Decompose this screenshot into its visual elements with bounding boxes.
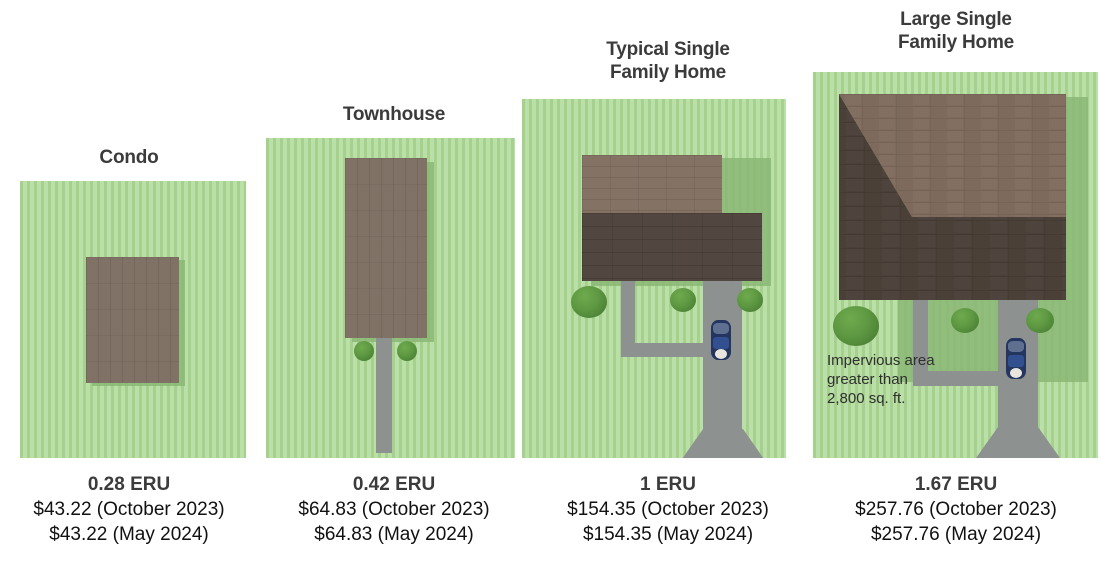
- bush-icon: [737, 288, 763, 312]
- panel-title-typical-single-family-home: Typical Single Family Home: [530, 38, 806, 84]
- condo-building-footprint: [86, 257, 179, 383]
- panel-title-condo: Condo: [0, 146, 258, 169]
- lot-large-single-family-home: Impervious area greater than 2,800 sq. f…: [813, 72, 1098, 458]
- panel-typical-single-family-home: Typical Single Family Home 1 ERU: [530, 0, 806, 571]
- eru-comparison-infographic: Condo 0.28 ERU $43.22 (October 2023) $43…: [0, 0, 1106, 571]
- caption-large-single-family-home: 1.67 ERU $257.76 (October 2023) $257.76 …: [806, 472, 1106, 547]
- bush-icon: [571, 286, 607, 318]
- eru-value-large-single-family-home: 1.67 ERU: [806, 472, 1106, 497]
- panel-large-single-family-home: Large Single Family Home: [806, 0, 1106, 571]
- car-icon: [710, 319, 732, 361]
- bush-icon: [670, 288, 696, 312]
- price-may-large-single-family-home: $257.76 (May 2024): [806, 522, 1106, 547]
- caption-typical-single-family-home: 1 ERU $154.35 (October 2023) $154.35 (Ma…: [530, 472, 806, 547]
- price-october-townhouse: $64.83 (October 2023): [258, 497, 530, 522]
- price-may-townhouse: $64.83 (May 2024): [258, 522, 530, 547]
- panel-condo: Condo 0.28 ERU $43.22 (October 2023) $43…: [0, 0, 258, 571]
- townhouse-building-footprint: [345, 158, 427, 338]
- lot-typical-single-family-home: [522, 99, 786, 458]
- townhouse-walkway: [376, 338, 392, 453]
- panel-title-large-single-family-home: Large Single Family Home: [806, 8, 1106, 54]
- impervious-area-annotation: Impervious area greater than 2,800 sq. f…: [827, 351, 987, 408]
- lot-townhouse: [266, 138, 515, 458]
- bush-icon: [1026, 308, 1054, 333]
- caption-condo: 0.28 ERU $43.22 (October 2023) $43.22 (M…: [0, 472, 258, 547]
- panel-townhouse: Townhouse 0.42 ERU $64.83 (October 2023)…: [258, 0, 530, 571]
- car-icon: [1005, 337, 1027, 380]
- price-october-condo: $43.22 (October 2023): [0, 497, 258, 522]
- roof-section-front: [582, 155, 722, 213]
- eru-value-townhouse: 0.42 ERU: [258, 472, 530, 497]
- bush-icon: [354, 341, 374, 361]
- bush-icon: [833, 306, 879, 346]
- driveway-apron: [976, 427, 1060, 458]
- panel-title-townhouse: Townhouse: [258, 103, 530, 126]
- bush-icon: [397, 341, 417, 361]
- price-may-typical-single-family-home: $154.35 (May 2024): [530, 522, 806, 547]
- roof-section-rear: [582, 213, 762, 281]
- driveway-apron: [682, 429, 764, 458]
- eru-value-condo: 0.28 ERU: [0, 472, 258, 497]
- price-october-large-single-family-home: $257.76 (October 2023): [806, 497, 1106, 522]
- bush-icon: [951, 308, 979, 333]
- price-october-typical-single-family-home: $154.35 (October 2023): [530, 497, 806, 522]
- price-may-condo: $43.22 (May 2024): [0, 522, 258, 547]
- lot-condo: [20, 181, 246, 458]
- caption-townhouse: 0.42 ERU $64.83 (October 2023) $64.83 (M…: [258, 472, 530, 547]
- eru-value-typical-single-family-home: 1 ERU: [530, 472, 806, 497]
- hip-roof: [828, 94, 1078, 324]
